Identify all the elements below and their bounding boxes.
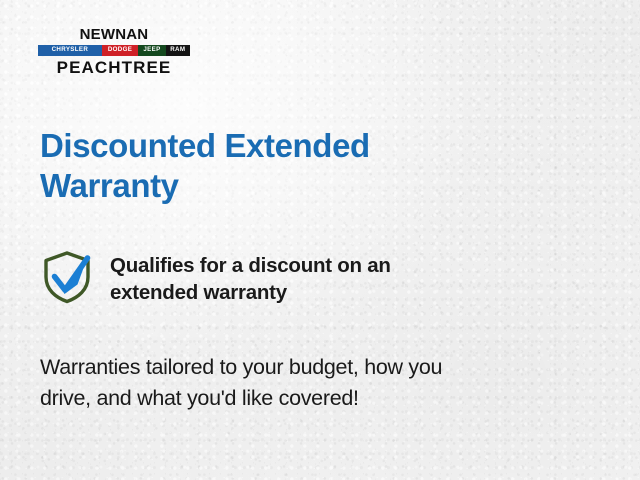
logo-newnan-text: Newnan — [38, 22, 190, 43]
page-title-line-2: Warranty — [40, 167, 179, 204]
page-title-line-1: Discounted Extended — [40, 127, 370, 164]
shield-check-icon — [42, 250, 92, 304]
body-copy: Warranties tailored to your budget, how … — [40, 352, 570, 413]
brand-badge-dodge: DODGE — [102, 45, 138, 56]
dealer-logo: Newnan CHRYSLER DODGE JEEP RAM PEACHTREE — [38, 22, 190, 76]
body-copy-line-2: drive, and what you'd like covered! — [40, 386, 359, 410]
promo-slide: Newnan CHRYSLER DODGE JEEP RAM PEACHTREE… — [0, 0, 640, 480]
feature-text-line-1: Qualifies for a discount on an — [110, 254, 391, 277]
brand-badge-ram: RAM — [166, 45, 190, 56]
feature-text: Qualifies for a discount on an extended … — [110, 248, 391, 306]
feature-row: Qualifies for a discount on an extended … — [42, 248, 562, 306]
brand-badge-jeep: JEEP — [138, 45, 165, 56]
logo-peachtree-text: PEACHTREE — [38, 59, 190, 76]
brand-badge-chrysler: CHRYSLER — [38, 45, 102, 56]
body-copy-line-1: Warranties tailored to your budget, how … — [40, 355, 442, 379]
feature-text-line-2: extended warranty — [110, 281, 287, 304]
brand-strip: CHRYSLER DODGE JEEP RAM — [38, 45, 190, 56]
page-title: Discounted Extended Warranty — [40, 126, 460, 207]
